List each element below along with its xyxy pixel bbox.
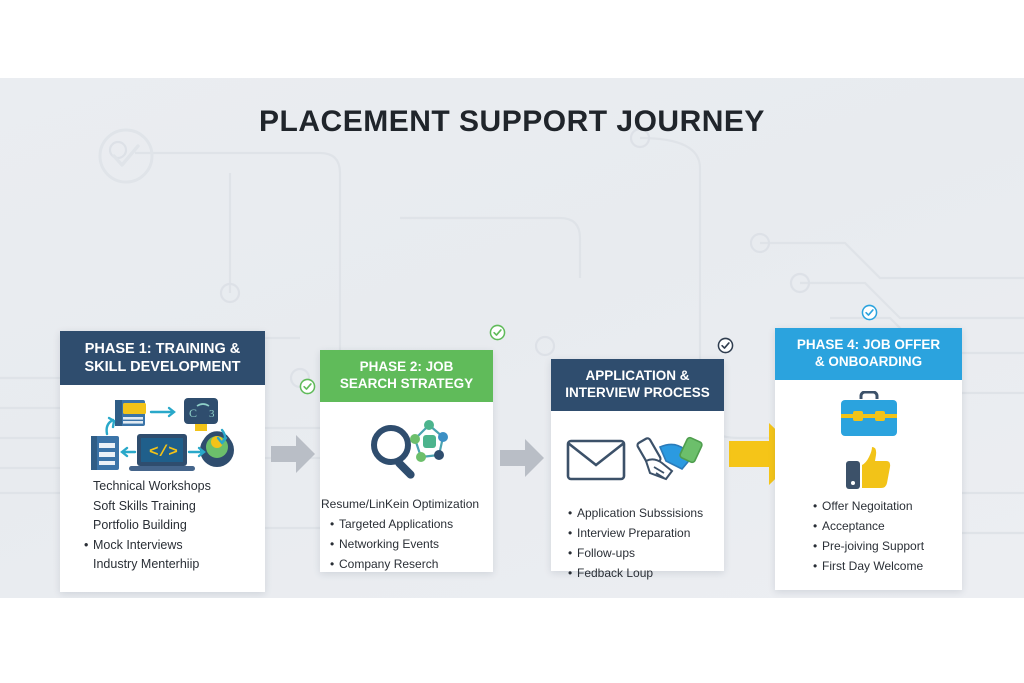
list-item: •Follow-ups <box>568 543 714 563</box>
phase-card-2[interactable]: PHASE 2: JOB SEARCH STRATEGY <box>320 350 493 572</box>
list-item-label: Fedback Loup <box>577 566 653 580</box>
magnifier-icon <box>374 428 416 480</box>
list-item-label: Mock Interviews <box>93 538 183 552</box>
check-badge-green-left <box>299 378 316 395</box>
phase-3-header-line1: APPLICATION & <box>557 368 718 385</box>
bullet-dot-icon: • <box>84 536 93 556</box>
phase-card-4[interactable]: PHASE 4: JOB OFFER & ONBOARDING <box>775 328 962 590</box>
list-item-label: Soft Skills Training <box>93 499 196 513</box>
phase-1-header-line2: SKILL DEVELOPMENT <box>66 358 259 376</box>
bullet-dot-icon: • <box>813 516 822 536</box>
list-item: •Interview Preparation <box>568 523 714 543</box>
list-item-label: First Day Welcome <box>822 559 923 573</box>
list-item: Industry Menterhiip <box>84 555 255 575</box>
bullet-dot-icon: • <box>330 534 339 554</box>
bullet-dot-icon: • <box>568 543 577 563</box>
network-nodes-icon <box>410 420 448 462</box>
phase-3-body: •Application Subssisions•Interview Prepa… <box>551 411 724 593</box>
list-item: •Fedback Loup <box>568 563 714 583</box>
svg-text:C: C <box>189 406 197 420</box>
phase-1-header: PHASE 1: TRAINING & SKILL DEVELOPMENT <box>60 331 265 385</box>
list-item-label: Application Subssisions <box>577 506 703 520</box>
list-item: Portfolio Building <box>84 516 255 536</box>
job-search-icon <box>361 415 453 487</box>
list-item: •First Day Welcome <box>813 556 952 576</box>
training-cycle-icon: C 3 <box>85 392 240 476</box>
bullet-dot-icon: • <box>330 554 339 574</box>
svg-text:3: 3 <box>209 408 215 420</box>
phase-card-1[interactable]: PHASE 1: TRAINING & SKILL DEVELOPMENT <box>60 331 265 592</box>
list-item-label: Offer Negoitation <box>822 499 913 513</box>
bullet-dot-icon: • <box>568 503 577 523</box>
slide-canvas: PHASE 1: TRAINING & SKILL DEVELOPMENT <box>0 0 1024 683</box>
arrow-phase1-to-phase2 <box>271 435 315 473</box>
list-item: •Offer Negoitation <box>813 496 952 516</box>
thumbs-up-icon <box>844 445 894 491</box>
phase-2-header-line1: PHASE 2: JOB <box>326 359 487 376</box>
phase-1-body: C 3 <box>60 385 265 585</box>
notebook-icon <box>91 436 119 470</box>
list-item-label: Portfolio Building <box>93 518 187 532</box>
handshake-icon <box>636 436 702 478</box>
phase-4-body: •Offer Negoitation•Acceptance•Pre-joivin… <box>775 380 962 586</box>
bullet-dot-icon: • <box>813 536 822 556</box>
phase-4-header-line1: PHASE 4: JOB OFFER <box>781 337 956 354</box>
check-badge-green-right <box>489 324 506 341</box>
phase-2-lead-text: Resume/LinKein Optimization <box>321 494 483 514</box>
list-item: •Targeted Applications <box>330 514 483 534</box>
list-item: •Acceptance <box>813 516 952 536</box>
list-item-label: Targeted Applications <box>339 517 453 531</box>
list-item: •Pre-joiving Support <box>813 536 952 556</box>
list-item-label: Company Reserch <box>339 557 438 571</box>
svg-text:</>: </> <box>149 443 178 461</box>
phase-1-item-list: Technical WorkshopsSoft Skills TrainingP… <box>84 477 255 575</box>
phase-2-header: PHASE 2: JOB SEARCH STRATEGY <box>320 350 493 402</box>
books-icon <box>115 400 146 426</box>
blackboard-icon: C 3 <box>184 398 218 431</box>
bullet-dot-icon: • <box>813 496 822 516</box>
phase-4-item-list: •Offer Negoitation•Acceptance•Pre-joivin… <box>813 496 952 576</box>
phase-card-3[interactable]: APPLICATION & INTERVIEW PROCESS <box>551 359 724 571</box>
check-badge-cyan <box>861 304 878 321</box>
list-item: Soft Skills Training <box>84 497 255 517</box>
phase-3-header: APPLICATION & INTERVIEW PROCESS <box>551 359 724 411</box>
briefcase-icon <box>838 391 900 439</box>
list-item: •Application Subssisions <box>568 503 714 523</box>
laptop-code-icon: </> <box>129 434 195 471</box>
phase-4-header: PHASE 4: JOB OFFER & ONBOARDING <box>775 328 962 380</box>
slide-background: PHASE 1: TRAINING & SKILL DEVELOPMENT <box>0 78 1024 598</box>
list-item-label: Networking Events <box>339 537 439 551</box>
bullet-dot-icon: • <box>568 563 577 583</box>
phase-2-item-list: •Targeted Applications•Networking Events… <box>330 514 483 574</box>
page-title: PLACEMENT SUPPORT JOURNEY <box>0 105 1024 139</box>
phase-2-body: Resume/LinKein Optimization •Targeted Ap… <box>320 402 493 584</box>
list-item-label: Technical Workshops <box>93 479 211 493</box>
phase-3-header-line2: INTERVIEW PROCESS <box>557 385 718 402</box>
application-process-icon <box>564 429 712 491</box>
check-badge-navy <box>717 337 734 354</box>
arrow-phase2-to-phase3 <box>500 439 544 477</box>
list-item-label: Acceptance <box>822 519 885 533</box>
list-item-label: Interview Preparation <box>577 526 690 540</box>
phase-2-header-line2: SEARCH STRATEGY <box>326 376 487 393</box>
bullet-dot-icon: • <box>330 514 339 534</box>
phase-4-header-line2: & ONBOARDING <box>781 354 956 371</box>
list-item: Technical Workshops <box>84 477 255 497</box>
phase-3-illustration <box>561 417 714 503</box>
phase-1-header-line1: PHASE 1: TRAINING & <box>66 340 259 358</box>
bullet-dot-icon: • <box>813 556 822 576</box>
phase-3-item-list: •Application Subssisions•Interview Prepa… <box>568 503 714 583</box>
list-item-label: Pre-joiving Support <box>822 539 924 553</box>
phase-1-illustration: C 3 <box>70 391 255 477</box>
list-item: •Mock Interviews <box>84 536 255 556</box>
phase-2-illustration <box>330 408 483 494</box>
list-item-label: Industry Menterhiip <box>93 557 199 571</box>
phase-4-illustration <box>785 386 952 496</box>
list-item: •Company Reserch <box>330 554 483 574</box>
envelope-icon <box>568 441 624 479</box>
bullet-dot-icon: • <box>568 523 577 543</box>
list-item-label: Follow-ups <box>577 546 635 560</box>
list-item: •Networking Events <box>330 534 483 554</box>
